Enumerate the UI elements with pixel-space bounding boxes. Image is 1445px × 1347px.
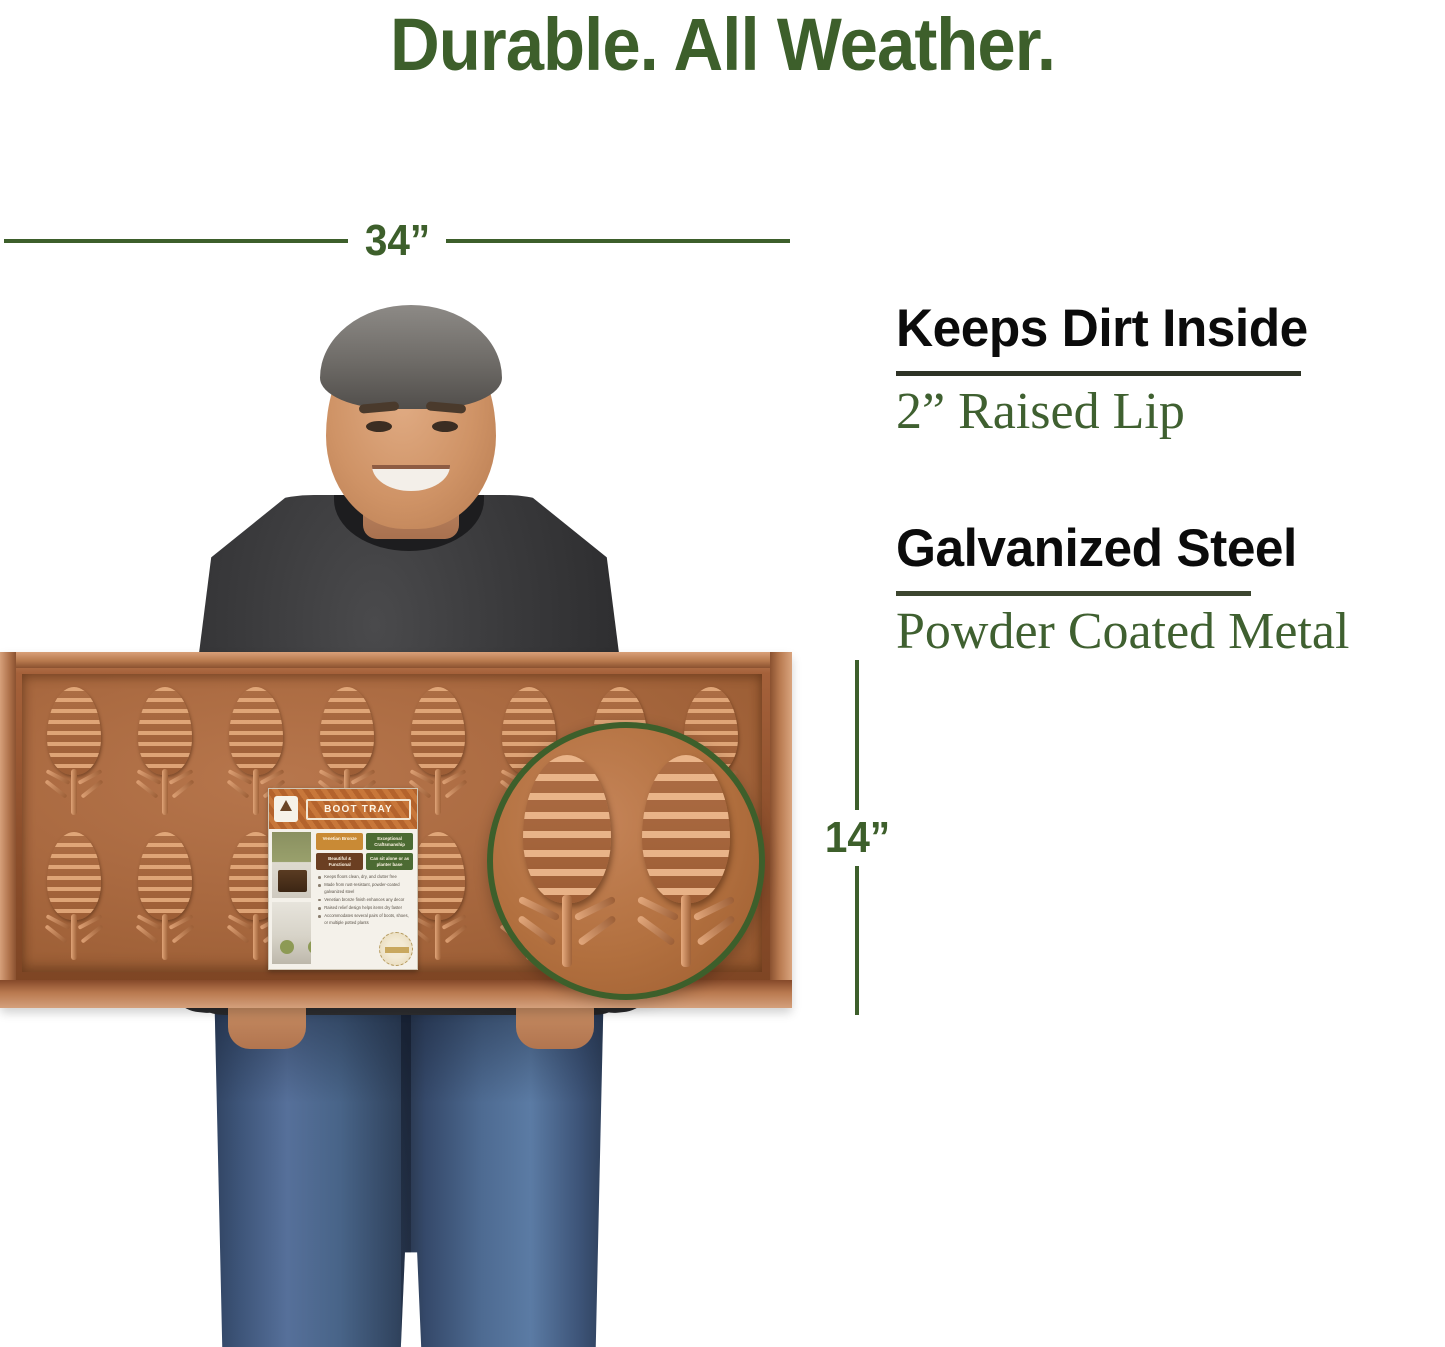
packaging-seal-icon: [379, 932, 413, 966]
product-infographic: Durable. All Weather. 34” 14”: [0, 0, 1445, 1347]
dimension-line-left: [4, 239, 348, 243]
width-dimension: 34”: [4, 215, 790, 267]
height-dimension-label: 14”: [824, 810, 889, 866]
list-item: Raised relief design helps items dry fas…: [318, 905, 413, 911]
page-title: Durable. All Weather.: [51, 2, 1395, 87]
packaging-product-title: BOOT TRAY: [308, 804, 409, 815]
right-eye: [432, 421, 458, 432]
dimension-line-top: [855, 660, 859, 810]
packaging-header: BOOT TRAY: [269, 789, 417, 829]
packaging-feature-list: Keeps floors clean, dry, and clutter fre…: [316, 874, 413, 926]
pinecone-relief-detail: [515, 755, 619, 967]
packaging-badge-row-2: Beautiful & Functional Can sit alone or …: [316, 853, 413, 870]
feature-divider: [896, 371, 1301, 376]
list-item: Made from rust-resistant, powder-coated …: [318, 882, 413, 895]
list-item: Keeps floors clean, dry, and clutter fre…: [318, 874, 413, 880]
feature-title: Keeps Dirt Inside: [896, 300, 1428, 357]
packaging-badge: Exceptional Craftsmanship: [366, 833, 413, 850]
list-item: Venetian bronze finish enhances any deco…: [318, 897, 413, 903]
pinecone-relief-detail: [634, 755, 738, 967]
product-packaging-label: BOOT TRAY Venetian Bronze Exceptional Cr…: [268, 788, 418, 970]
packaging-badge: Can sit alone or as planter base: [366, 853, 413, 870]
magnified-pinecone-pair: [493, 728, 759, 994]
feature-galvanized-steel: Galvanized Steel Powder Coated Metal: [896, 520, 1444, 662]
feature-divider: [896, 591, 1251, 596]
packaging-badge-row-1: Venetian Bronze Exceptional Craftsmanshi…: [316, 833, 413, 850]
feature-keeps-dirt-inside: Keeps Dirt Inside 2” Raised Lip: [896, 300, 1444, 442]
list-item: Accommodates several pairs of boots, sho…: [318, 913, 413, 926]
pine-tree-logo-icon: [274, 796, 298, 822]
dimension-line-right: [446, 239, 790, 243]
pinecone-relief: [132, 832, 198, 960]
pinecone-relief: [41, 832, 107, 960]
detail-magnifier-circle: [487, 722, 765, 1000]
left-eye: [366, 421, 392, 432]
packaging-photo-plants: [272, 902, 311, 964]
packaging-badge: Beautiful & Functional: [316, 853, 363, 870]
packaging-badge: Venetian Bronze: [316, 833, 363, 850]
feature-list: Keeps Dirt Inside 2” Raised Lip Galvaniz…: [896, 300, 1444, 662]
pinecone-relief: [41, 687, 107, 815]
feature-title: Galvanized Steel: [896, 520, 1428, 577]
feature-subtitle: 2” Raised Lip: [896, 382, 1444, 442]
packaging-title-box: BOOT TRAY: [306, 799, 411, 820]
packaging-photo-boots: [272, 832, 311, 898]
feature-subtitle: Powder Coated Metal: [896, 602, 1444, 662]
hair: [320, 305, 502, 409]
packaging-photos: [269, 829, 314, 970]
height-dimension: 14”: [812, 660, 902, 1015]
tray-rim-left: [0, 652, 16, 1008]
tray-rim-right: [770, 652, 792, 1008]
pinecone-relief: [132, 687, 198, 815]
width-dimension-label: 34”: [351, 219, 442, 263]
dimension-line-bottom: [855, 866, 859, 1016]
tray-rim-top: [0, 652, 792, 668]
